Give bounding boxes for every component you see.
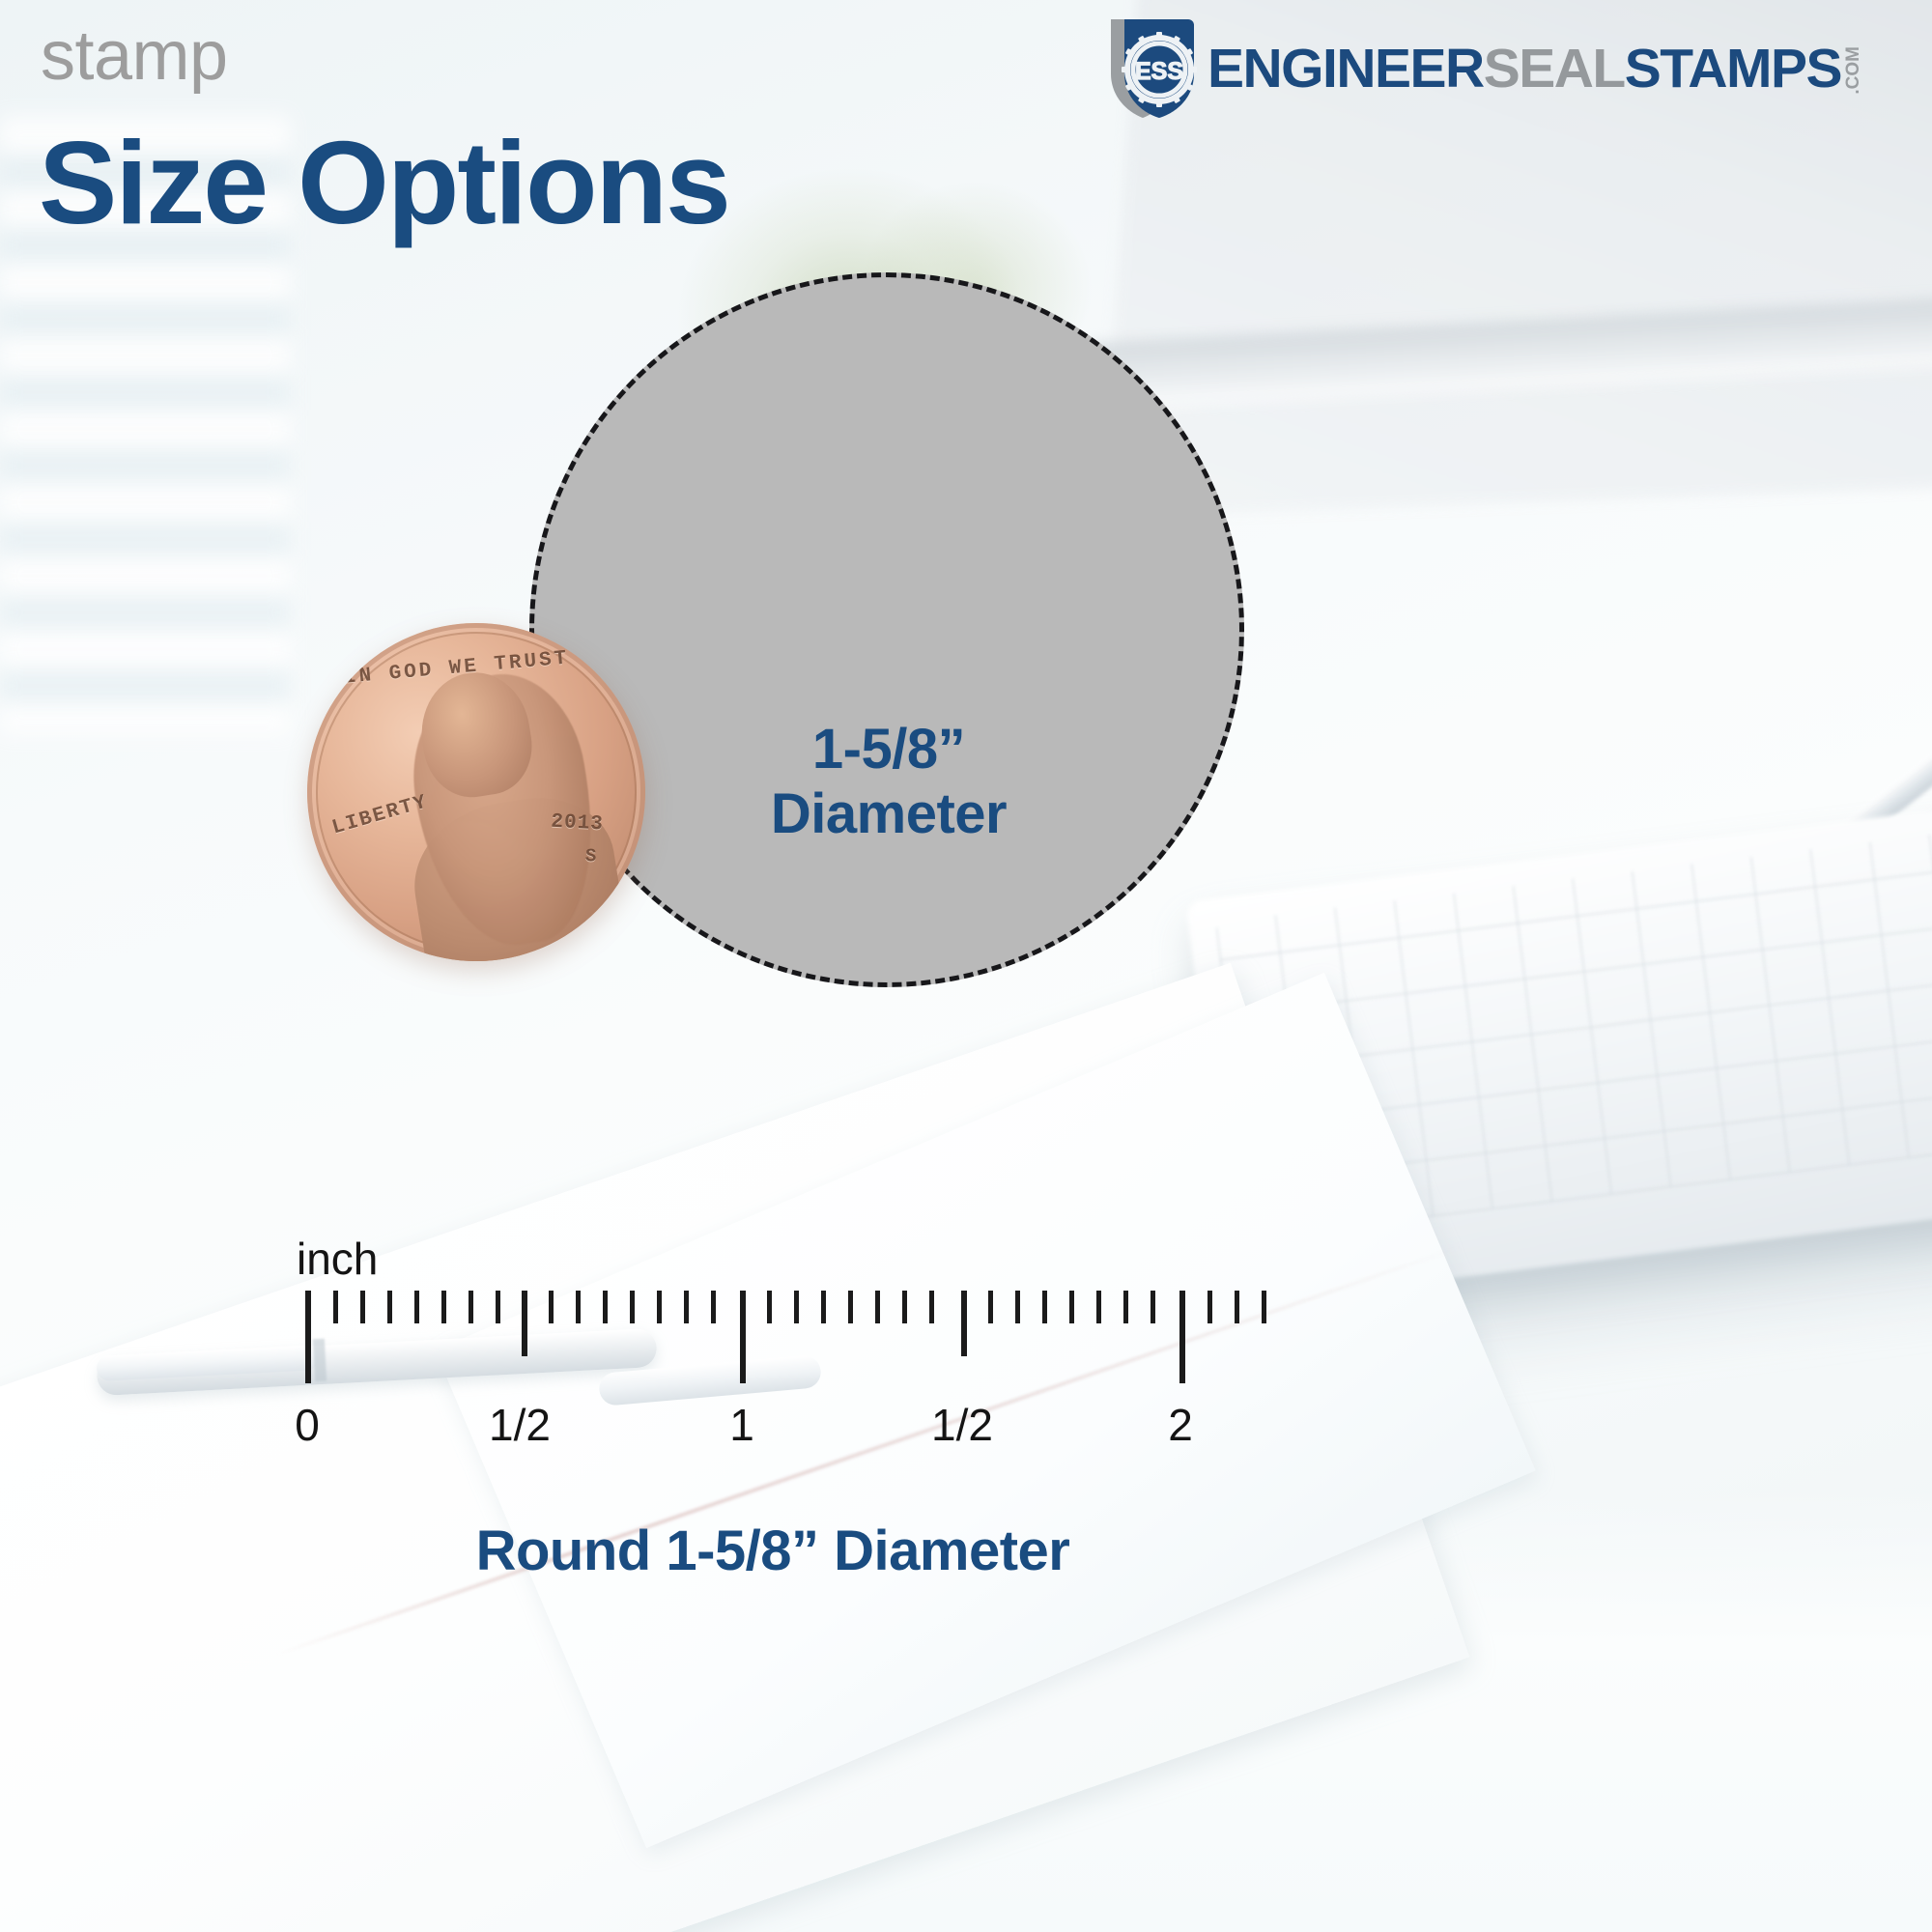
engineer-seal-stamps-logo[interactable]: ESS ENGINEER SEAL STAMPS .COM <box>1097 17 1862 120</box>
eyebrow-label: stamp <box>41 21 228 91</box>
ess-shield-gear-icon: ESS <box>1097 17 1202 120</box>
logo-word-seal: SEAL <box>1484 42 1625 97</box>
logo-wordmark: ENGINEER SEAL STAMPS .COM <box>1207 42 1862 97</box>
penny-year-text: 2013 <box>551 811 605 837</box>
size-caption: Round 1-5/8” Diameter <box>0 1519 1546 1583</box>
svg-text:ESS: ESS <box>1135 58 1183 85</box>
logo-word-engineer: ENGINEER <box>1207 42 1484 97</box>
logo-tld: .COM <box>1844 46 1862 95</box>
size-options-graphic: stamp Size Options <box>0 0 1932 1932</box>
stamp-size-circle <box>529 272 1244 987</box>
penny-mintmark-text: S <box>584 845 597 867</box>
stamp-size-value: 1-5/8” <box>657 717 1121 781</box>
logo-word-stamps: STAMPS <box>1625 42 1841 97</box>
stamp-size-label: 1-5/8” Diameter <box>657 717 1121 847</box>
stamp-size-unit: Diameter <box>657 781 1121 846</box>
page-title: Size Options <box>39 124 729 241</box>
marker-pen-ring <box>313 1339 327 1382</box>
